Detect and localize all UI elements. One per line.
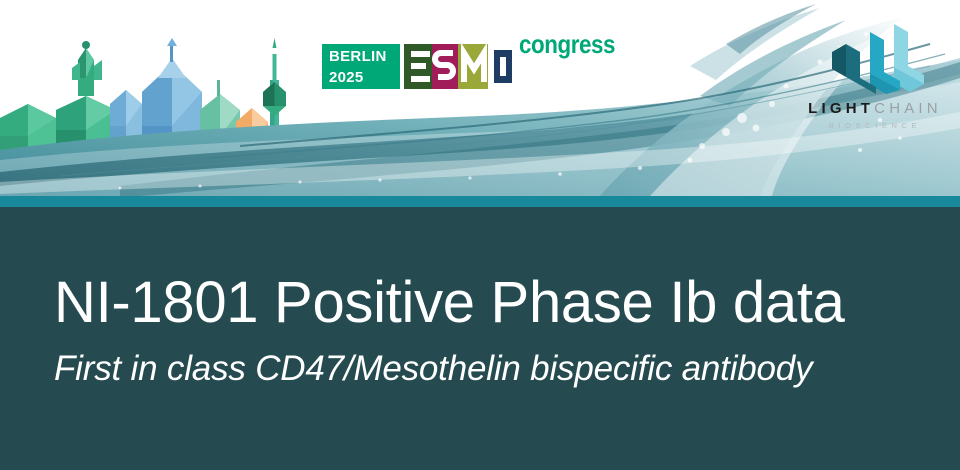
esmo-congress-label: congress [519, 31, 615, 57]
esmo-wordmark [404, 44, 520, 89]
esmo-berlin-block: BERLIN 2025 [322, 44, 400, 89]
slide-root: BERLIN 2025 [0, 0, 960, 470]
light-chain-name-bold: LIGHT [808, 100, 874, 117]
page-subtitle: First in class CD47/Mesothelin bispecifi… [54, 350, 812, 388]
berlin-skyline-illustration [0, 18, 290, 178]
light-chain-name-light: CHAIN [874, 100, 942, 117]
light-chain-tagline: BIOSCIENCE [800, 121, 950, 130]
teal-divider-stripe [0, 196, 960, 207]
title-band [0, 207, 960, 470]
light-chain-name: LIGHTCHAIN [800, 100, 950, 117]
header-banner: BERLIN 2025 [0, 0, 960, 196]
esmo-berlin-line1: BERLIN [329, 46, 400, 67]
esmo-berlin-line2: 2025 [329, 67, 400, 88]
page-title: NI-1801 Positive Phase Ib data [54, 273, 845, 333]
esmo-logo: BERLIN 2025 [322, 30, 594, 92]
light-chain-mark-icon [828, 22, 928, 94]
light-chain-bioscience-logo: LIGHTCHAIN BIOSCIENCE [800, 22, 950, 132]
